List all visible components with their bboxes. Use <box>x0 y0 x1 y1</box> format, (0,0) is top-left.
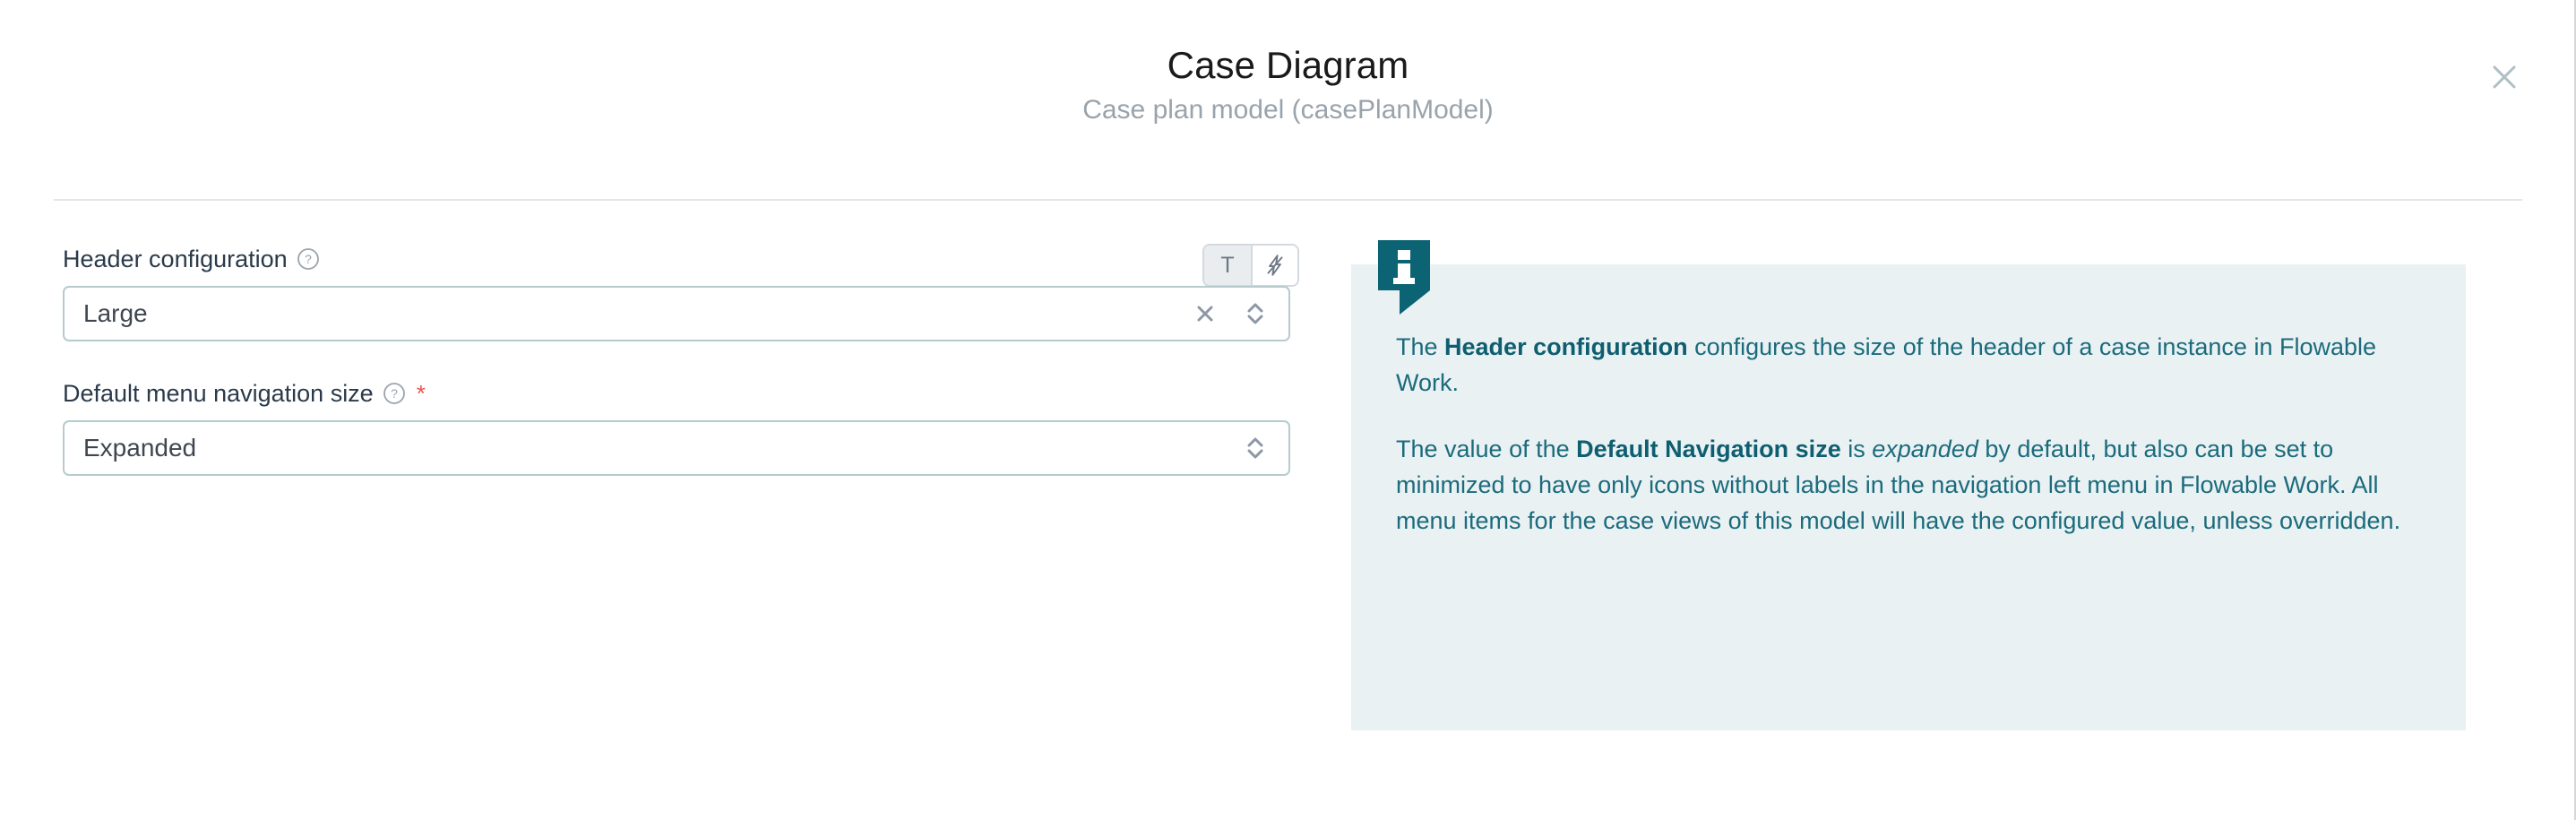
info-p1-bold1: Header configuration <box>1444 333 1688 360</box>
case-diagram-dialog: Case Diagram Case plan model (casePlanMo… <box>0 0 2576 820</box>
info-badge-icon <box>1378 240 1430 315</box>
value-mode-toggle-group: T <box>1202 244 1299 287</box>
dialog-header: Case Diagram Case plan model (casePlanMo… <box>0 0 2576 200</box>
field-label-row: Header configuration ? <box>63 244 1299 274</box>
title-block: Case Diagram Case plan model (casePlanMo… <box>0 43 2576 126</box>
field-header-configuration: Header configuration ? T <box>63 244 1299 341</box>
page-subtitle: Case plan model (casePlanModel) <box>0 93 2576 127</box>
svg-text:?: ? <box>305 252 312 266</box>
text-mode-icon[interactable]: T <box>1204 246 1251 285</box>
clear-x-icon[interactable] <box>1188 297 1222 331</box>
field-actions <box>1238 422 1272 474</box>
info-p2-italic1: expanded <box>1872 436 1978 462</box>
page-title: Case Diagram <box>0 43 2576 88</box>
dialog-body: Header configuration ? T <box>0 200 2576 820</box>
info-paragraph-header-configuration: The Header configuration configures the … <box>1396 330 2410 401</box>
text-mode-label: T <box>1220 255 1234 277</box>
info-paragraph-default-navigation-size: The value of the Default Navigation size… <box>1396 432 2410 539</box>
info-p2-part1: The value of the <box>1396 436 1576 462</box>
svg-text:?: ? <box>391 386 398 401</box>
info-p1-part1: The <box>1396 333 1444 360</box>
info-panel: The Header configuration configures the … <box>1351 264 2466 730</box>
field-label-row: Default menu navigation size ? * <box>63 378 1299 409</box>
field-default-menu-navigation-size: Default menu navigation size ? * Expande… <box>63 378 1299 476</box>
field-label-header-configuration: Header configuration <box>63 247 288 272</box>
info-content: The Header configuration configures the … <box>1351 264 2466 539</box>
chevron-up-down-icon[interactable] <box>1238 431 1272 465</box>
form-column: Header configuration ? T <box>63 200 1299 476</box>
close-icon <box>2486 59 2522 95</box>
field-actions <box>1188 288 1272 340</box>
info-p2-part2: is <box>1841 436 1873 462</box>
header-configuration-value: Large <box>65 301 148 326</box>
header-configuration-select[interactable]: Large <box>63 286 1290 341</box>
help-circle-icon[interactable]: ? <box>383 382 406 405</box>
lightning-bolt-icon[interactable] <box>1251 246 1297 285</box>
help-circle-icon[interactable]: ? <box>297 247 320 271</box>
chevron-up-down-icon[interactable] <box>1238 297 1272 331</box>
default-menu-navigation-size-select[interactable]: Expanded <box>63 420 1290 476</box>
required-asterisk: * <box>417 382 426 405</box>
field-label-default-menu-navigation-size: Default menu navigation size <box>63 382 374 406</box>
close-button[interactable] <box>2479 52 2529 102</box>
info-p2-bold1: Default Navigation size <box>1576 436 1841 462</box>
default-menu-navigation-size-value: Expanded <box>65 436 196 461</box>
